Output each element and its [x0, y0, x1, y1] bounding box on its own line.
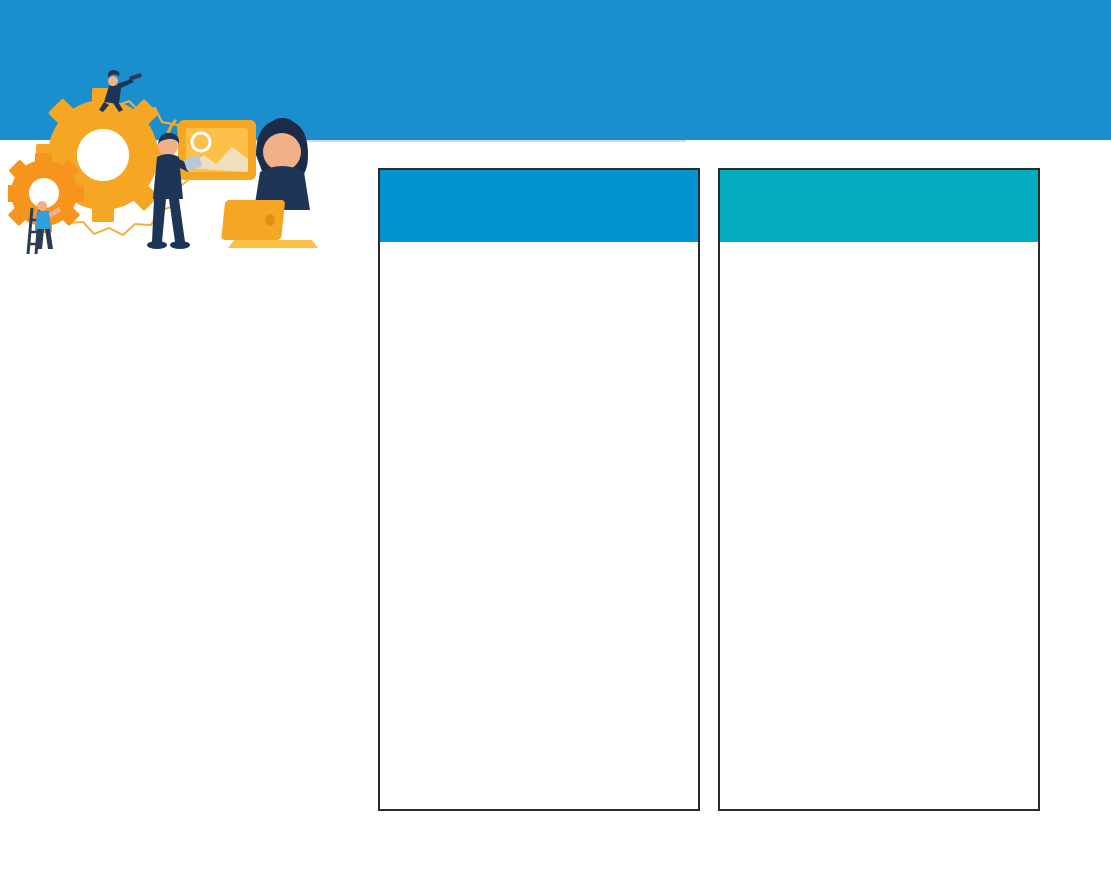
year-header-2020	[720, 170, 1038, 242]
year-column-box-2019	[378, 168, 700, 811]
year-header-2019	[380, 170, 698, 242]
gears-and-business-people-illustration	[8, 60, 338, 255]
worker-on-ladder-icon	[28, 201, 61, 254]
year-column-box-2020	[718, 168, 1040, 811]
